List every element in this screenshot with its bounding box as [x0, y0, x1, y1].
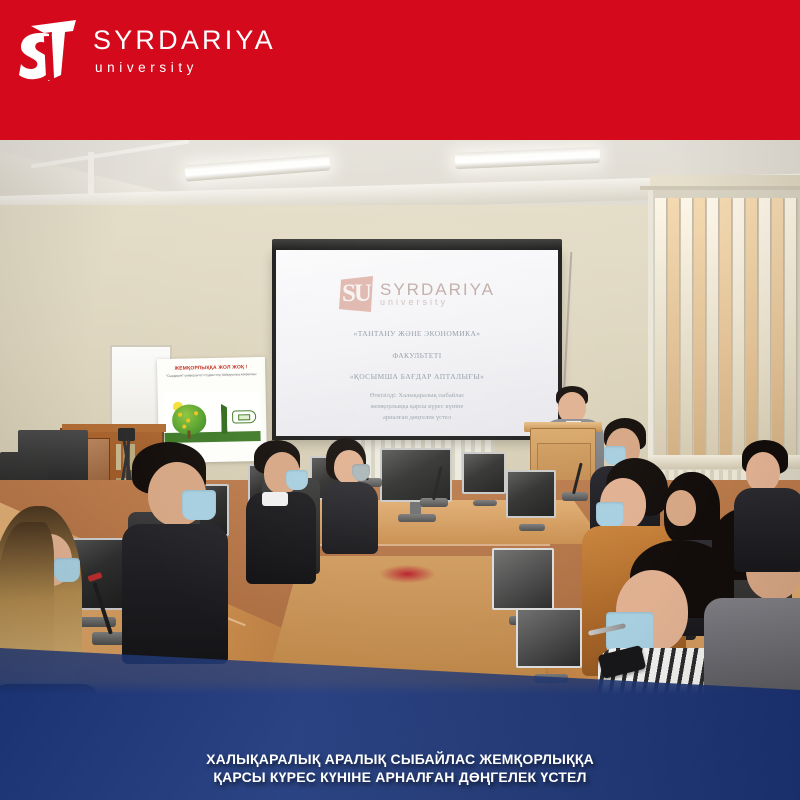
- poster-subtitle: "Сырдария" университеті студенттер байқа…: [162, 372, 260, 379]
- brand-name: SYRDARIYA: [93, 27, 276, 54]
- slide-brand-name: SYRDARIYA: [380, 281, 495, 298]
- slide-line-6: арналған дөңгелек үстел: [292, 412, 542, 423]
- caption-line-2: ҚАРСЫ КҮРЕС КҮНІНЕ АРНАЛҒАН ДӨҢГЕЛЕК ҮСТ…: [8, 768, 792, 786]
- brand-wordmark: SYRDARIYA university: [93, 18, 276, 75]
- poster-illustration: [164, 391, 261, 443]
- presentation-slide: SU SYRDARIYA university «ТАНТАНУ ЖӘНЕ ЭК…: [276, 250, 558, 436]
- brand-header: SYRDARIYA university: [0, 0, 800, 140]
- slide-line-1: «ТАНТАНУ ЖӘНЕ ЭКОНОМИКА»: [292, 328, 542, 341]
- su-monogram-icon: [18, 18, 80, 84]
- slide-line-4: Өткізілді: Халықаралық сыбайлас: [292, 390, 542, 401]
- slide-line-3: «ҚОСЫМША БАҒДАР АПТАЛЫҒЫ»: [292, 372, 542, 381]
- vertical-blinds: [653, 198, 800, 468]
- poster-title: ЖЕМҚОРЛЫҚҚА ЖОЛ ЖОҚ !: [162, 364, 260, 372]
- su-monogram-icon: SU: [339, 276, 373, 312]
- slide-logo: SU SYRDARIYA university: [292, 276, 542, 312]
- caption-text: ХАЛЫҚАРАЛЫҚ АРАЛЫҚ СЫБАЙЛАС ЖЕМҚОРЛЫҚҚА …: [0, 750, 800, 786]
- brand-subtitle: university: [93, 61, 276, 75]
- slide-brand-sub: university: [380, 298, 495, 307]
- promotional-poster: ЖЕМҚОРЛЫҚҚА ЖОЛ ЖОҚ ! "Сырдария" универс…: [0, 0, 800, 800]
- caption-line-1: ХАЛЫҚАРАЛЫҚ АРАЛЫҚ СЫБАЙЛАС ЖЕМҚОРЛЫҚҚА: [8, 750, 792, 768]
- projection-screen: SU SYRDARIYA university «ТАНТАНУ ЖӘНЕ ЭК…: [272, 250, 562, 440]
- slide-line-2: ФАКУЛЬТЕТІ: [292, 350, 542, 363]
- slide-line-5: жемқорлыққа қарсы күрес күніне: [292, 401, 542, 412]
- table-red-marking-center: [380, 565, 435, 583]
